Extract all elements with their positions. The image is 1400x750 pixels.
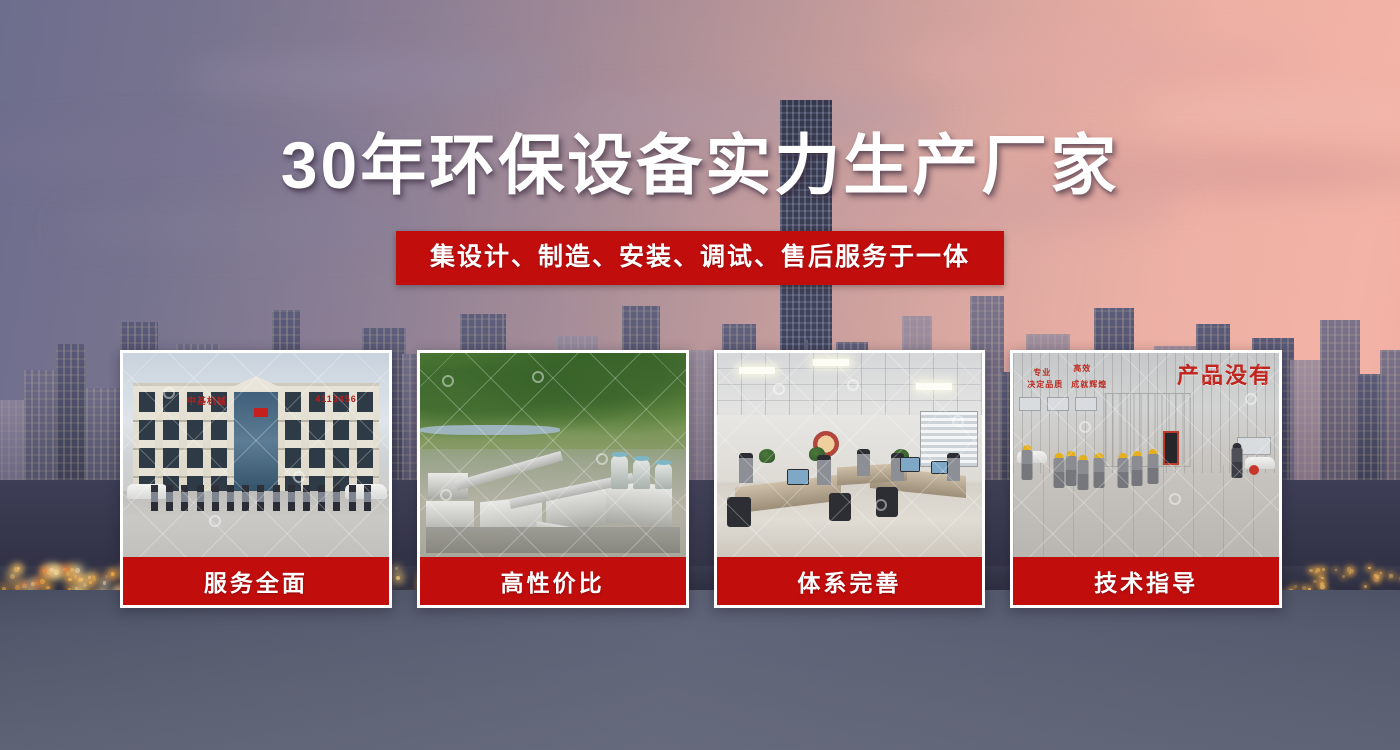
watermark-logo-icon	[596, 453, 608, 465]
factory-slogan-text: 高效	[1073, 363, 1091, 374]
watermark-logo-icon	[442, 375, 454, 387]
factory-side-door	[1163, 431, 1179, 465]
shore-light	[88, 576, 91, 579]
staff-member	[212, 485, 219, 511]
shore-light	[70, 568, 74, 572]
office-chair	[829, 493, 851, 521]
office-worker	[857, 449, 870, 476]
potted-plant-icon	[759, 449, 775, 463]
parked-car	[127, 484, 169, 499]
promo-banner: 30年环保设备实力生产厂家 集设计、制造、安装、调试、售后服务于一体	[0, 0, 1400, 750]
shore-light	[48, 572, 51, 575]
factory-banner-sign: 产品没有	[1177, 358, 1273, 390]
watermark-logo-icon	[163, 387, 175, 399]
computer-monitor	[787, 469, 809, 485]
card-caption-bar: 体系完善	[717, 557, 983, 605]
ceiling-light	[813, 359, 849, 366]
shore-light	[1342, 575, 1345, 578]
watermark-logo-icon	[773, 383, 785, 395]
building-pediment	[226, 376, 286, 390]
shore-light	[1313, 580, 1317, 584]
office-worker	[817, 455, 831, 485]
staff-member	[181, 485, 188, 511]
watermark-logo-icon	[293, 471, 305, 483]
office-workspace-photo	[717, 353, 983, 557]
shore-light	[40, 579, 45, 584]
watermark-logo-icon	[440, 489, 452, 501]
company-name-sign: 中基机械	[187, 394, 227, 407]
shore-light	[1335, 569, 1337, 571]
shore-light	[74, 575, 78, 579]
shore-light	[1320, 585, 1324, 589]
shore-light	[1389, 574, 1393, 578]
shore-light	[1322, 568, 1325, 571]
worker-uniform	[1148, 454, 1159, 484]
plant-road	[426, 527, 680, 553]
industrial-plant	[426, 435, 680, 553]
feature-card-row: 中基机械 4113456 服务全面	[120, 350, 1282, 610]
shore-light	[35, 582, 38, 585]
computer-monitor	[931, 461, 948, 474]
staff-member	[242, 485, 249, 511]
feature-card[interactable]: 产品没有 专业 高效 决定品质 成就辉煌	[1010, 350, 1282, 608]
shore-light	[17, 567, 20, 570]
shore-light	[1368, 567, 1370, 569]
shore-light	[1321, 577, 1324, 580]
office-chair	[727, 497, 751, 527]
shore-light	[83, 583, 87, 587]
worker-uniform	[1118, 458, 1129, 488]
phone-number-sign: 4113456	[315, 394, 357, 404]
shore-light	[1302, 586, 1306, 590]
page-title: 30年环保设备实力生产厂家	[0, 128, 1400, 202]
shore-light	[1376, 575, 1380, 579]
subtitle-text: 集设计、制造、安装、调试、售后服务于一体	[430, 242, 970, 272]
watermark-logo-icon	[532, 371, 544, 383]
shore-light	[68, 578, 71, 581]
shore-light	[54, 570, 59, 575]
shore-light	[15, 585, 20, 590]
factory-slogan-text: 专业	[1033, 367, 1051, 378]
worker-uniform	[1066, 456, 1077, 486]
office-building: 中基机械 4113456	[133, 383, 379, 501]
office-worker	[739, 453, 753, 483]
worker-uniform	[1054, 458, 1065, 488]
shore-light	[44, 570, 47, 573]
staff-member	[303, 485, 310, 511]
shore-light	[31, 582, 35, 586]
shore-light	[1380, 572, 1382, 574]
shore-light	[46, 586, 49, 589]
shore-light	[1350, 569, 1354, 573]
small-river	[420, 425, 560, 435]
staff-member	[227, 485, 234, 511]
card-caption-text: 体系完善	[797, 564, 901, 598]
worker-uniform	[1022, 450, 1033, 480]
ceiling-light	[739, 367, 775, 374]
shore-light	[66, 571, 70, 575]
water-reflection-sheen	[0, 590, 1400, 750]
shore-light	[103, 581, 107, 585]
staff-member	[318, 485, 325, 511]
shore-light	[80, 578, 83, 581]
shore-light	[49, 568, 54, 573]
card-caption-bar: 技术指导	[1013, 557, 1279, 605]
staff-member	[364, 485, 371, 511]
staff-member	[288, 485, 295, 511]
watermark-logo-icon	[847, 379, 859, 391]
ceiling-light	[916, 383, 952, 390]
worker-uniform	[1132, 456, 1143, 486]
staff-member	[349, 485, 356, 511]
staff-member	[197, 485, 204, 511]
computer-monitor	[900, 457, 920, 472]
watermark-logo-icon	[1245, 393, 1257, 405]
card-caption-text: 技术指导	[1094, 564, 1198, 598]
staff-member	[257, 485, 264, 511]
shore-light	[1364, 585, 1367, 588]
factory-slogan-text: 成就辉煌	[1071, 379, 1107, 390]
shore-light	[89, 581, 93, 585]
worker-uniform	[1078, 460, 1089, 490]
factory-staff-training-photo: 产品没有 专业 高效 决定品质 成就辉煌	[1013, 353, 1279, 557]
shore-light	[1294, 585, 1297, 588]
shore-light	[1309, 569, 1312, 572]
company-headquarters-photo: 中基机械 4113456	[123, 353, 389, 557]
card-caption-bar: 服务全面	[123, 557, 389, 605]
staff-member	[151, 485, 158, 511]
feature-card[interactable]: 体系完善	[714, 350, 986, 608]
card-caption-text: 高性价比	[501, 564, 605, 598]
staff-member	[273, 485, 280, 511]
shore-light	[105, 575, 108, 578]
card-caption-text: 服务全面	[204, 564, 308, 598]
aerial-production-plant-photo	[420, 353, 686, 557]
factory-slogan-text: 决定品质	[1027, 379, 1063, 390]
staff-member	[166, 485, 173, 511]
watermark-logo-icon	[209, 515, 221, 527]
subtitle-bar: 集设计、制造、安装、调试、售后服务于一体	[396, 231, 1004, 285]
card-caption-bar: 高性价比	[420, 557, 686, 605]
office-worker	[947, 453, 960, 481]
national-flag-icon	[254, 408, 268, 417]
staff-member	[333, 485, 340, 511]
shore-light	[10, 574, 15, 579]
shore-light	[75, 568, 80, 573]
feature-card[interactable]: 中基机械 4113456 服务全面	[120, 350, 392, 608]
feature-card[interactable]: 高性价比	[417, 350, 689, 608]
shore-light	[63, 568, 67, 572]
watermark-logo-icon	[875, 499, 887, 511]
worker-uniform	[1094, 458, 1105, 488]
